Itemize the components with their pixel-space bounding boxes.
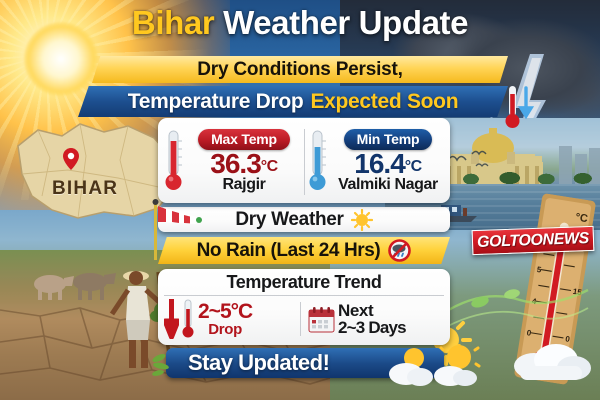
min-temp-body: Min Temp 16.4°C Valmiki Nagar: [328, 129, 448, 193]
min-temp-unit: °C: [405, 158, 422, 175]
subtitle-2-highlight: Expected Soon: [310, 90, 458, 114]
title-rest: Weather Update: [223, 4, 468, 41]
title-highlight: Bihar: [132, 4, 214, 41]
stay-updated-label: Stay Updated!: [188, 350, 329, 376]
trend-next-text: Next 2~3 Days: [338, 302, 406, 337]
thermometer-falling-icon: [505, 84, 535, 130]
trend-next: Next 2~3 Days: [300, 302, 444, 337]
card-divider: [304, 129, 305, 195]
min-temp-value: 16.4°C: [328, 149, 448, 178]
subtitle-bar-1: Dry Conditions Persist,: [92, 56, 508, 83]
cloud-icon: [508, 330, 594, 384]
trend-drop: 2~5°C Drop: [164, 299, 300, 339]
map-state-label: BIHAR: [52, 178, 118, 200]
page-title: Bihar Weather Update: [0, 6, 600, 41]
max-temp-body: Max Temp 36.3°C Rajgir: [184, 129, 304, 193]
thermometer-hot-icon: [164, 129, 184, 193]
trend-body: 2~5°C Drop Next 2~3 Days: [164, 296, 444, 339]
trend-drop-label: Drop: [198, 322, 252, 337]
trend-next-line2: 2~3 Days: [338, 319, 406, 336]
thermometer-cold-icon: [308, 129, 328, 193]
calendar-icon: [308, 306, 335, 333]
sun-icon: [351, 209, 373, 231]
min-temp-place: Valmiki Nagar: [328, 177, 448, 193]
wind-swoosh: [440, 268, 590, 338]
max-temp-badge: Max Temp: [198, 129, 290, 150]
min-temp-card: Min Temp 16.4°C Valmiki Nagar: [304, 123, 448, 199]
trend-heading: Temperature Trend: [164, 272, 444, 296]
svg-text:°C: °C: [575, 211, 589, 225]
windsock-icon: [150, 198, 204, 260]
max-temp-card: Max Temp 36.3°C Rajgir: [160, 123, 304, 199]
brand-logo-text: GOLTOONEWS: [477, 230, 589, 252]
trend-next-line1: Next: [338, 302, 406, 319]
no-rain-label: No Rain (Last 24 Hrs): [197, 240, 381, 262]
birds-icon: [446, 148, 498, 170]
max-temp-place: Rajgir: [184, 177, 304, 193]
location-pin-icon: [63, 148, 79, 170]
trend-drop-text: 2~5°C Drop: [198, 301, 252, 337]
cattle-icon: [28, 266, 120, 304]
thermometer-icon: [182, 299, 195, 339]
subtitle-bar-2: Temperature Drop Expected Soon: [78, 86, 508, 117]
brand-logo[interactable]: GOLTOONEWS: [472, 226, 595, 255]
subtitle-1-text: Dry Conditions Persist,: [197, 59, 403, 81]
min-temp-badge: Min Temp: [344, 129, 433, 150]
max-temp-unit: °C: [261, 158, 278, 175]
sun-behind-cloud-icon: [380, 344, 484, 390]
leaf-icon: [152, 352, 178, 376]
subtitle-2-white: Temperature Drop: [128, 90, 304, 114]
temperature-cards: Max Temp 36.3°C Rajgir Min Temp 16.4°C V…: [158, 118, 450, 203]
max-temp-value: 36.3°C: [184, 149, 304, 178]
dry-weather-label: Dry Weather: [235, 209, 343, 231]
no-rain-icon: [388, 239, 411, 262]
infographic-canvas: BIHAR °C 10540 10150: [0, 0, 600, 400]
trend-drop-value: 2~5°C: [198, 301, 252, 322]
down-arrow-icon: [164, 299, 179, 339]
temperature-trend-card: Temperature Trend 2~5°C Drop: [158, 269, 450, 345]
